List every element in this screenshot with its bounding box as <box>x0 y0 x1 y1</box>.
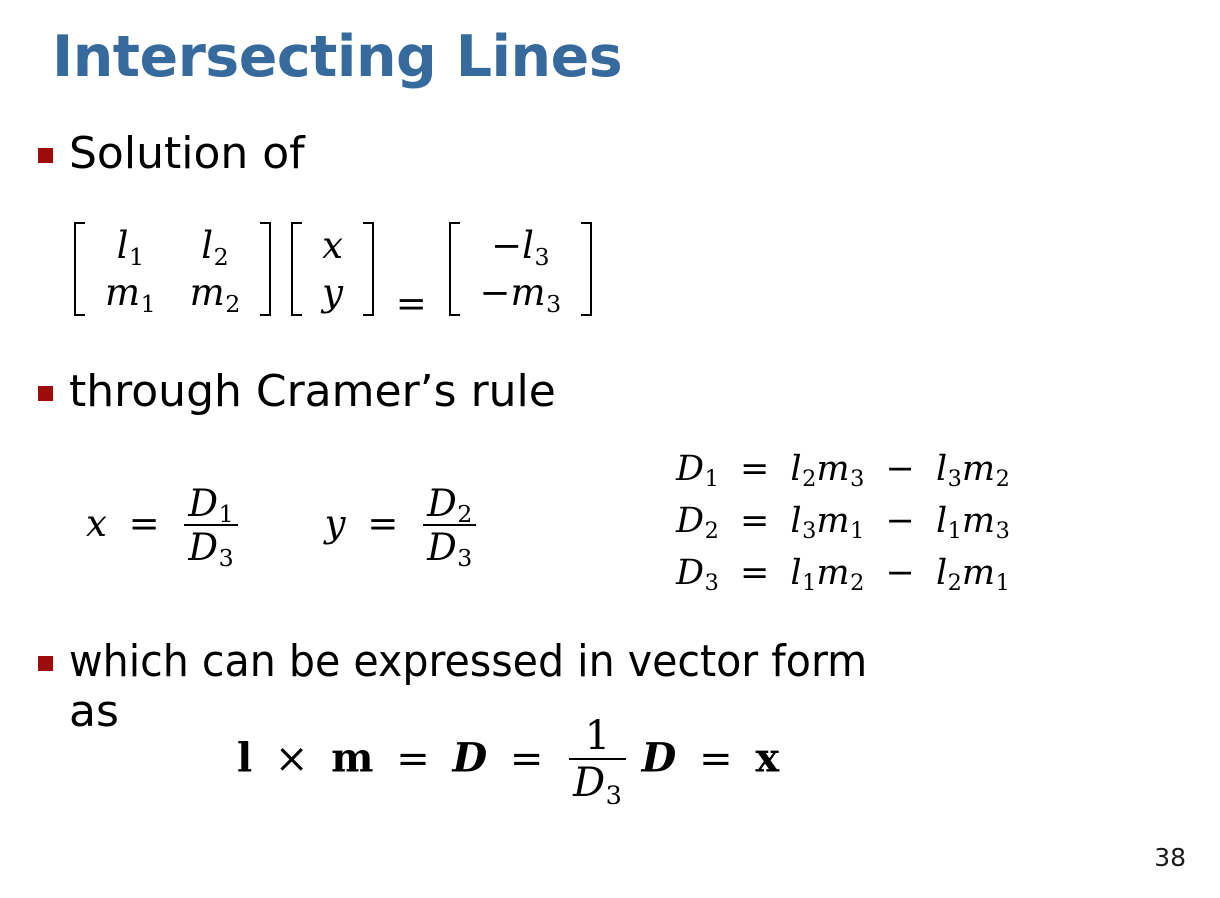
body-content: Solution of <box>0 128 1220 179</box>
cross-product-sign: × <box>275 739 309 779</box>
rhs-vector: −l3 −m3 <box>463 222 579 316</box>
equation-y-solution: y = D2 D3 <box>325 486 480 567</box>
matrix-cell: x <box>305 222 360 269</box>
fraction-numerator: 1 <box>581 716 614 758</box>
matrix-row: −l3 <box>463 222 579 269</box>
unknown-vector: x y <box>305 222 360 316</box>
page-title: Intersecting Lines <box>52 26 622 90</box>
bullet-label-solution-of: Solution of <box>69 128 305 179</box>
left-bracket-unknown-icon <box>291 222 302 316</box>
right-bracket-unknown-icon <box>363 222 374 316</box>
slide: Intersecting Lines Solution of l1 l2 m1 … <box>0 0 1220 898</box>
fraction-denominator: D3 <box>423 524 476 566</box>
bullet-label-vector-form-continuation: as <box>0 686 119 737</box>
square-bullet-icon <box>38 386 53 401</box>
bullet-item-cramers-rule: through Cramer’s rule <box>0 366 556 417</box>
matrix-row: y <box>305 269 360 316</box>
bullet-item-vector-form: which can be expressed in vector form <box>0 636 923 687</box>
matrix-cell: m1 <box>88 269 173 316</box>
determinant-line: D2 = l3m1 − l1m3 <box>676 504 1010 539</box>
right-bracket-coeff-icon <box>260 222 271 316</box>
vector-l: l <box>237 735 252 782</box>
bullet-label-vector-form: which can be expressed in vector form <box>69 636 867 687</box>
matrix-cell: l1 <box>88 222 173 269</box>
matrix-cell: −l3 <box>463 222 579 269</box>
bullet-label-cramers-rule: through Cramer’s rule <box>69 366 556 417</box>
fraction: D2 D3 <box>423 485 476 566</box>
vector-m: m <box>331 735 373 782</box>
equation-cramer-solutions: x = D1 D3 y = D2 D3 <box>86 486 479 567</box>
determinant-line: D1 = l2m3 − l3m2 <box>676 452 1010 487</box>
matrix-row: x <box>305 222 360 269</box>
left-bracket-coeff-icon <box>74 222 85 316</box>
equation-matrix-system: l1 l2 m1 m2 x y = −l3 <box>74 222 592 322</box>
equation-determinants: D1 = l2m3 − l3m2 D2 = l3m1 − l1m3 D3 = l… <box>676 452 1010 591</box>
matrix-row: m1 m2 <box>88 269 257 316</box>
matrix-row: l1 l2 <box>88 222 257 269</box>
fraction-denominator: D3 <box>184 524 237 566</box>
matrix-cell: m2 <box>173 269 258 316</box>
fraction-denominator: D3 <box>569 758 626 803</box>
right-bracket-rhs-icon <box>581 222 592 316</box>
fraction-numerator: D2 <box>423 485 476 524</box>
matrix-cell: y <box>305 269 360 316</box>
matrix-cell: −m3 <box>463 269 579 316</box>
matrix-row: −m3 <box>463 269 579 316</box>
fraction: D1 D3 <box>184 485 237 566</box>
coefficient-matrix: l1 l2 m1 m2 <box>88 222 257 316</box>
fraction-numerator: D1 <box>184 485 237 524</box>
equals-sign: = <box>396 285 427 322</box>
vector-D-second: D <box>642 735 677 782</box>
equation-vector-form: l × m = D = 1 D3 D = x <box>237 718 779 805</box>
equation-x-solution: x = D1 D3 <box>86 486 241 567</box>
page-number: 38 <box>1154 843 1186 872</box>
matrix-cell: l2 <box>173 222 258 269</box>
vector-x: x <box>755 735 779 782</box>
determinant-line: D3 = l1m2 − l2m1 <box>676 556 1010 591</box>
square-bullet-icon <box>38 148 53 163</box>
fraction: 1 D3 <box>569 716 626 803</box>
bullet-item-solution-of: Solution of <box>0 128 1220 179</box>
left-bracket-rhs-icon <box>449 222 460 316</box>
vector-D-first: D <box>452 735 487 782</box>
square-bullet-icon <box>38 656 53 671</box>
